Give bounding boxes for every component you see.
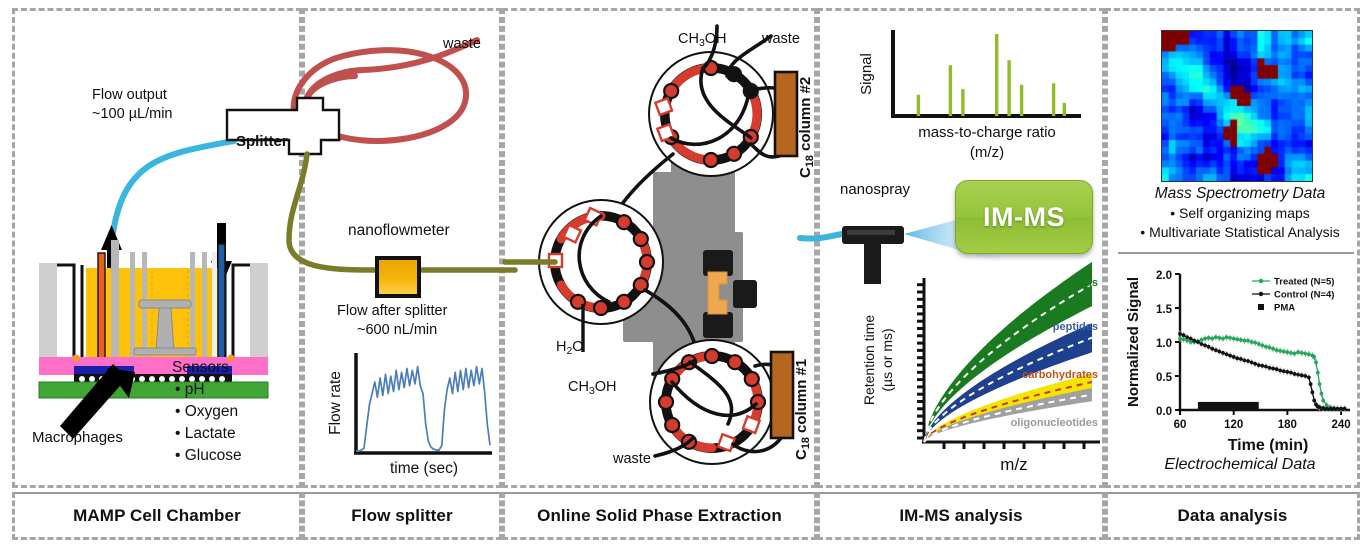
retention-label-oligonucleotides: oligonucleotides bbox=[1011, 417, 1098, 429]
echem-point bbox=[1336, 407, 1340, 411]
echem-point bbox=[1214, 348, 1218, 352]
echem-point bbox=[1257, 342, 1261, 346]
echem-point bbox=[1312, 399, 1316, 403]
echem-xlabel: Time (min) bbox=[1228, 437, 1309, 454]
chamber-housing-left bbox=[39, 263, 57, 368]
echem-point bbox=[1300, 351, 1304, 355]
echem-point bbox=[1253, 341, 1257, 345]
echem-point bbox=[1232, 337, 1236, 341]
mass-spectrometry-data-caption: Mass Spectrometry Data bbox=[1125, 184, 1355, 204]
chamber-media-volume bbox=[86, 268, 222, 358]
contact-dot-left bbox=[73, 355, 80, 362]
flow-after-splitter-line1: Flow after splitter bbox=[337, 302, 447, 321]
sensors-title: Sensors bbox=[172, 358, 229, 378]
footer-data: Data analysis bbox=[1105, 492, 1360, 540]
footer-label-splitter: Flow splitter bbox=[351, 506, 452, 526]
probe-grey-5 bbox=[202, 252, 207, 358]
echem-point bbox=[1285, 350, 1289, 354]
electrochemical-chart: 0.00.51.01.52.0 60120180240 Treated (N=5… bbox=[1118, 262, 1363, 457]
nanoflowmeter-label: nanoflowmeter bbox=[348, 221, 450, 241]
echem-point bbox=[1296, 350, 1300, 354]
waste-label-splitter: waste bbox=[443, 35, 481, 54]
waste-label-bottom: waste bbox=[613, 450, 651, 469]
echem-point bbox=[1243, 358, 1247, 362]
echem-point bbox=[1328, 407, 1332, 411]
echem-point bbox=[1196, 340, 1200, 344]
echem-ytick: 1.5 bbox=[1156, 304, 1173, 316]
echem-point bbox=[1221, 351, 1225, 355]
echem-point bbox=[1319, 392, 1323, 396]
echem-point bbox=[1300, 373, 1304, 377]
echem-point bbox=[1303, 374, 1307, 378]
echem-point bbox=[1243, 339, 1247, 343]
data-panel-divider bbox=[1118, 252, 1354, 254]
footer-imms: IM-MS analysis bbox=[817, 492, 1105, 540]
echem-legend: Treated (N=5)Control (N=4)PMA bbox=[1252, 277, 1334, 314]
echem-point bbox=[1307, 352, 1311, 356]
echem-point bbox=[1332, 407, 1336, 411]
sensor-item-ph: • pH bbox=[175, 380, 205, 400]
retention-ylabel-line1: Retention time bbox=[861, 315, 877, 405]
spe-valve-assembly-graphic bbox=[505, 14, 820, 484]
echem-point bbox=[1293, 372, 1297, 376]
footer-label-data: Data analysis bbox=[1178, 506, 1288, 526]
echem-point bbox=[1207, 336, 1211, 340]
echem-point bbox=[1260, 344, 1264, 348]
echem-point bbox=[1275, 348, 1279, 352]
echem-point bbox=[1321, 406, 1325, 410]
echem-point bbox=[1225, 335, 1229, 339]
echem-point bbox=[1185, 335, 1189, 339]
echem-point bbox=[1200, 338, 1204, 342]
echem-point bbox=[1289, 371, 1293, 375]
echem-point bbox=[1182, 337, 1186, 341]
som-bullet-2: • Multivariate Statistical Analysis bbox=[1118, 224, 1362, 242]
retention-label-carbohydrates: carbohydrates bbox=[1022, 369, 1098, 381]
echem-point bbox=[1268, 366, 1272, 370]
echem-ytick: 0.0 bbox=[1156, 406, 1172, 418]
echem-point bbox=[1268, 346, 1272, 350]
echem-point bbox=[1278, 369, 1282, 373]
mass-spectrum-ylabel: Signal bbox=[858, 53, 875, 95]
self-organizing-map-heatmap bbox=[1161, 30, 1313, 182]
echem-point bbox=[1239, 357, 1243, 361]
echem-point bbox=[1318, 405, 1322, 409]
nanospray-label: nanospray bbox=[840, 180, 910, 199]
echem-point bbox=[1221, 337, 1225, 341]
flow-rate-xlabel: time (sec) bbox=[390, 460, 458, 477]
echem-point bbox=[1271, 367, 1275, 371]
echem-point bbox=[1260, 364, 1264, 368]
h2o-label: H2O bbox=[556, 338, 584, 358]
mass-spectrum-xlabel-line2: (m/z) bbox=[970, 144, 1004, 161]
footer-spe: Online Solid Phase Extraction bbox=[502, 492, 817, 540]
echem-point bbox=[1314, 361, 1318, 365]
echem-point bbox=[1178, 332, 1182, 336]
echem-point bbox=[1250, 340, 1254, 344]
flow-rate-ylabel: Flow rate bbox=[327, 371, 344, 435]
probe-grey-1 bbox=[111, 240, 119, 358]
echem-point bbox=[1250, 361, 1254, 365]
echem-point bbox=[1311, 390, 1315, 394]
echem-point bbox=[1325, 403, 1329, 407]
mass-spectrum-xlabel-line1: mass-to-charge ratio bbox=[918, 124, 1056, 141]
echem-point bbox=[1339, 407, 1343, 411]
footer-mamp: MAMP Cell Chamber bbox=[12, 492, 302, 540]
footer-label-imms: IM-MS analysis bbox=[899, 506, 1022, 526]
footer-label-spe: Online Solid Phase Extraction bbox=[537, 506, 782, 526]
flow-rate-chart: Flow rate time (sec) bbox=[312, 345, 497, 480]
nanoflow-tubing bbox=[289, 154, 515, 270]
echem-point bbox=[1232, 355, 1236, 359]
c18-column-2-label: C18 column #2 bbox=[796, 77, 818, 178]
nanoflowmeter-device-icon bbox=[374, 255, 422, 299]
macrophages-label: Macrophages bbox=[32, 428, 123, 447]
echem-point bbox=[1321, 399, 1325, 403]
echem-point bbox=[1285, 370, 1289, 374]
figure-root: MAMP Cell Chamber Flow splitter Online S… bbox=[0, 0, 1372, 548]
ch3oh-label-top: CH3OH bbox=[678, 30, 727, 50]
echem-point bbox=[1253, 362, 1257, 366]
echem-point bbox=[1325, 407, 1329, 411]
echem-point bbox=[1264, 345, 1268, 349]
footer-splitter: Flow splitter bbox=[302, 492, 502, 540]
echem-point bbox=[1189, 340, 1193, 344]
echem-point bbox=[1235, 356, 1239, 360]
echem-point bbox=[1185, 339, 1189, 343]
retention-label-peptides: peptides bbox=[1053, 321, 1098, 333]
flow-rate-trace bbox=[356, 367, 490, 452]
echem-point bbox=[1309, 382, 1313, 386]
echem-point bbox=[1210, 337, 1214, 341]
im-ms-instrument-label: IM-MS bbox=[983, 202, 1065, 233]
echem-legend-item: PMA bbox=[1274, 303, 1295, 314]
echem-point bbox=[1210, 347, 1214, 351]
splitter-label: Splitter bbox=[236, 133, 288, 150]
electrode-orange bbox=[98, 253, 105, 358]
sensor-item-glucose: • Glucose bbox=[175, 446, 242, 466]
mass-spectrum-chart: Signal mass-to-charge ratio (m/z) bbox=[845, 24, 1095, 164]
sensor-item-oxygen: • Oxygen bbox=[175, 402, 238, 422]
echem-legend-item: Treated (N=5) bbox=[1274, 277, 1334, 288]
retention-bands bbox=[924, 262, 1092, 442]
retention-ylabel-line2: (µs or ms) bbox=[879, 328, 895, 391]
echem-point bbox=[1228, 354, 1232, 358]
echem-point bbox=[1289, 351, 1293, 355]
echem-point bbox=[1307, 375, 1311, 379]
echem-point bbox=[1316, 371, 1320, 375]
echem-ytick: 2.0 bbox=[1156, 270, 1172, 282]
echem-point bbox=[1303, 352, 1307, 356]
sensor-item-lactate: • Lactate bbox=[175, 424, 236, 444]
c18-column-2 bbox=[775, 72, 797, 156]
echem-point bbox=[1318, 382, 1322, 386]
echem-xtick: 120 bbox=[1224, 419, 1243, 431]
waste-label-top: waste bbox=[762, 30, 800, 49]
c18-column-1 bbox=[771, 352, 793, 438]
echem-ylabel: Normalized Signal bbox=[1125, 277, 1142, 407]
im-ms-instrument-box[interactable]: IM-MS bbox=[955, 180, 1093, 254]
flow-after-splitter-line2: ~600 nL/min bbox=[357, 321, 437, 340]
echem-point bbox=[1246, 359, 1250, 363]
ch3oh-label-bottom: CH3OH bbox=[568, 378, 617, 398]
echem-point bbox=[1225, 352, 1229, 356]
echem-point bbox=[1275, 367, 1279, 371]
echem-xtick: 240 bbox=[1331, 419, 1350, 431]
c18-column-1-label: C18 column #1 bbox=[792, 359, 814, 460]
retention-time-chart: lipidspeptidescarbohydratesoligonucleoti… bbox=[852, 268, 1112, 488]
echem-point bbox=[1217, 350, 1221, 354]
mass-spectrum-peaks bbox=[918, 34, 1064, 116]
echem-point bbox=[1239, 338, 1243, 342]
echem-point bbox=[1192, 339, 1196, 343]
echem-point bbox=[1296, 373, 1300, 377]
echem-point bbox=[1264, 365, 1268, 369]
retention-label-lipids: lipids bbox=[1069, 277, 1098, 289]
probe-grey-2 bbox=[130, 252, 135, 358]
echem-point bbox=[1228, 336, 1232, 340]
echem-ytick: 1.0 bbox=[1156, 338, 1172, 350]
echem-xtick: 180 bbox=[1278, 419, 1297, 431]
echem-point bbox=[1217, 336, 1221, 340]
som-bullet-1: • Self organizing maps bbox=[1125, 205, 1355, 223]
echem-point bbox=[1282, 350, 1286, 354]
echem-point bbox=[1257, 363, 1261, 367]
echem-point bbox=[1278, 349, 1282, 353]
echem-point bbox=[1203, 337, 1207, 341]
retention-xlabel: m/z bbox=[1000, 455, 1027, 474]
footer-label-mamp: MAMP Cell Chamber bbox=[73, 506, 241, 526]
echem-point bbox=[1271, 347, 1275, 351]
transfer-capillary-blue bbox=[800, 234, 842, 239]
echem-point bbox=[1200, 342, 1204, 346]
electrochemical-data-caption: Electrochemical Data bbox=[1125, 455, 1355, 475]
echem-ytick: 0.5 bbox=[1156, 372, 1173, 384]
echem-point bbox=[1293, 352, 1297, 356]
splitter-tubing-graphic bbox=[215, 18, 515, 298]
echem-xtick: 60 bbox=[1174, 419, 1187, 431]
valve-rotor-bottom bbox=[650, 340, 774, 464]
echem-point bbox=[1178, 337, 1182, 341]
echem-point bbox=[1282, 369, 1286, 373]
echem-series bbox=[1178, 332, 1346, 411]
echem-point bbox=[1203, 344, 1207, 348]
flow-output-label-line1: Flow output bbox=[92, 86, 167, 105]
echem-point bbox=[1235, 337, 1239, 341]
chamber-clamp-left bbox=[57, 265, 74, 360]
echem-point bbox=[1214, 335, 1218, 339]
pma-treatment-bar bbox=[1198, 402, 1259, 410]
echem-point bbox=[1182, 333, 1186, 337]
echem-point bbox=[1343, 407, 1347, 411]
echem-legend-item: Control (N=4) bbox=[1274, 290, 1334, 301]
echem-point bbox=[1312, 355, 1316, 359]
echem-point bbox=[1207, 345, 1211, 349]
echem-error-bars bbox=[1180, 331, 1345, 412]
echem-point bbox=[1246, 339, 1250, 343]
echem-point bbox=[1189, 337, 1193, 341]
